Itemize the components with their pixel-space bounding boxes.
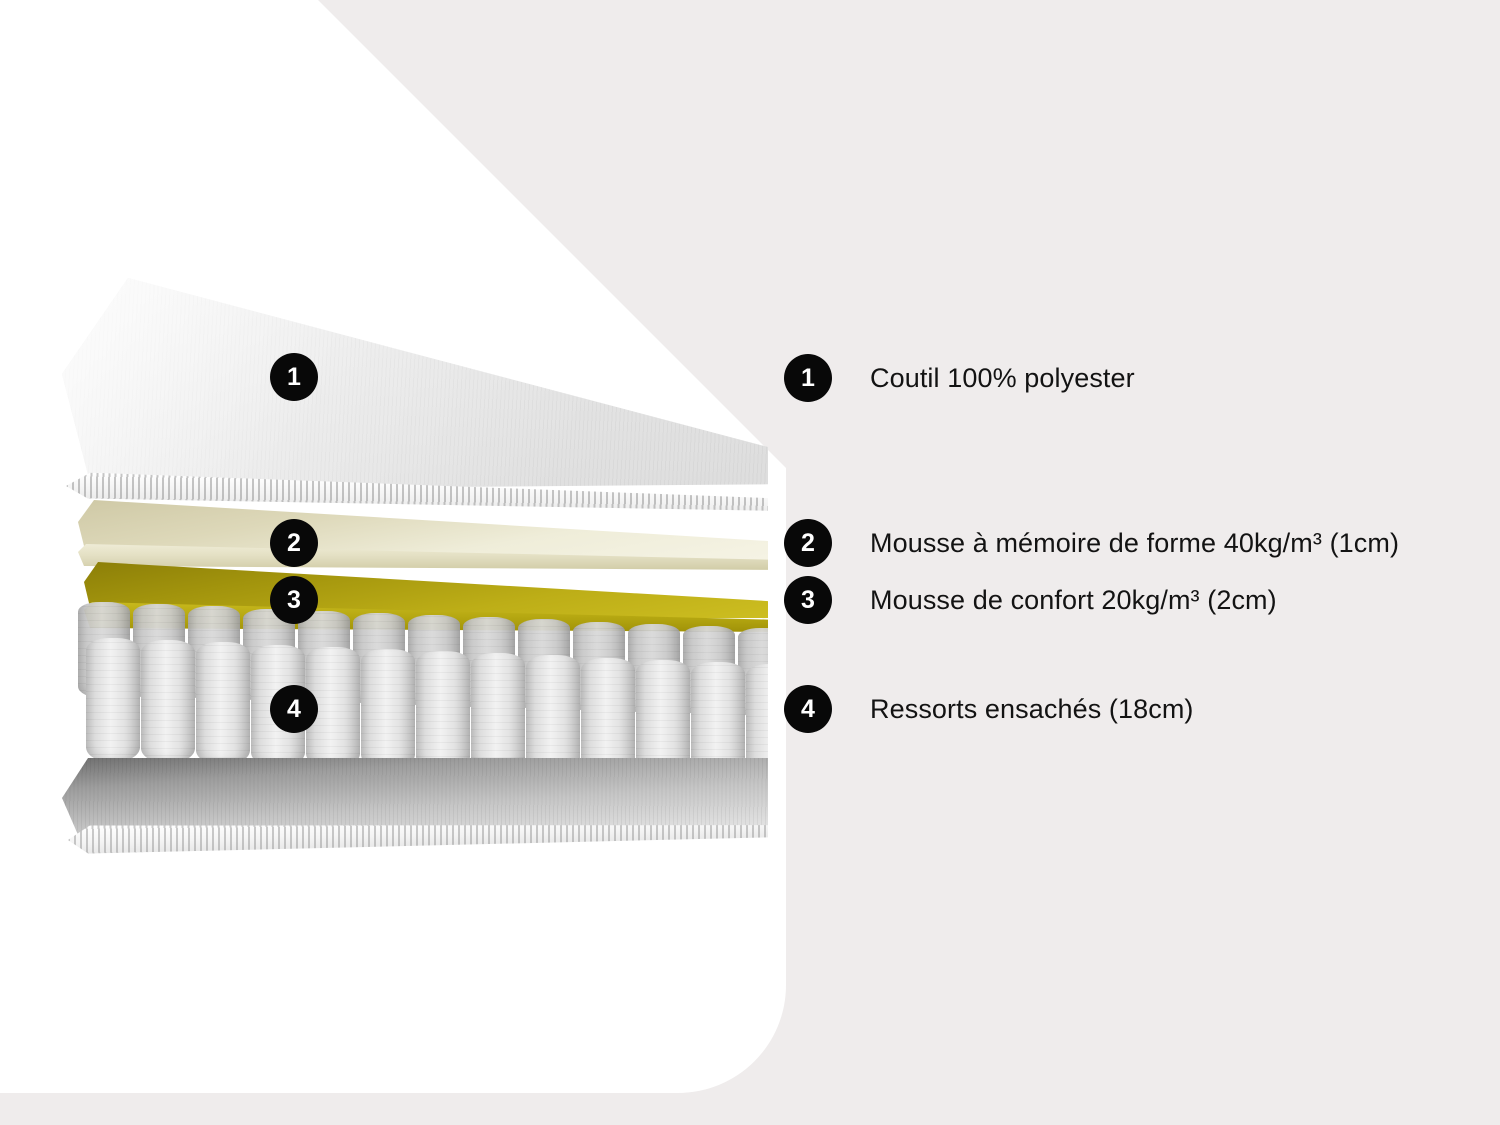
artwork-badge-3: 3 [270, 576, 318, 624]
pocket-spring [471, 653, 525, 772]
mattress-illustration [0, 0, 768, 1093]
pocket-spring [196, 642, 250, 765]
legend-row-1: 1 Coutil 100% polyester [784, 354, 1135, 402]
legend: 1 Coutil 100% polyester 2 Mousse à mémoi… [784, 0, 1484, 1125]
pocket-spring [86, 638, 140, 762]
mattress-cover-layer [62, 278, 768, 510]
pocket-spring [361, 649, 415, 770]
legend-badge-4: 4 [784, 685, 832, 733]
mattress-layers-infographic: 1 2 3 4 1 Coutil 100% polyester 2 Mousse… [0, 0, 1500, 1125]
legend-label-4: Ressorts ensachés (18cm) [870, 694, 1194, 725]
legend-label-3: Mousse de confort 20kg/m³ (2cm) [870, 585, 1277, 616]
legend-label-2: Mousse à mémoire de forme 40kg/m³ (1cm) [870, 528, 1399, 559]
pocket-spring [416, 651, 470, 771]
legend-badge-2: 2 [784, 519, 832, 567]
legend-badge-3: 3 [784, 576, 832, 624]
legend-row-2: 2 Mousse à mémoire de forme 40kg/m³ (1cm… [784, 519, 1399, 567]
mattress-illustration-clip: 1 2 3 4 [0, 0, 768, 1093]
pocket-spring [526, 655, 580, 774]
cover-highlight [62, 278, 768, 510]
legend-badge-1: 1 [784, 354, 832, 402]
legend-row-3: 3 Mousse de confort 20kg/m³ (2cm) [784, 576, 1277, 624]
artwork-badge-1: 1 [270, 353, 318, 401]
legend-row-4: 4 Ressorts ensachés (18cm) [784, 685, 1194, 733]
mattress-base-panel [62, 758, 768, 868]
legend-label-1: Coutil 100% polyester [870, 363, 1135, 394]
artwork-badge-4: 4 [270, 685, 318, 733]
pocket-spring [141, 640, 195, 763]
artwork-badge-2: 2 [270, 519, 318, 567]
